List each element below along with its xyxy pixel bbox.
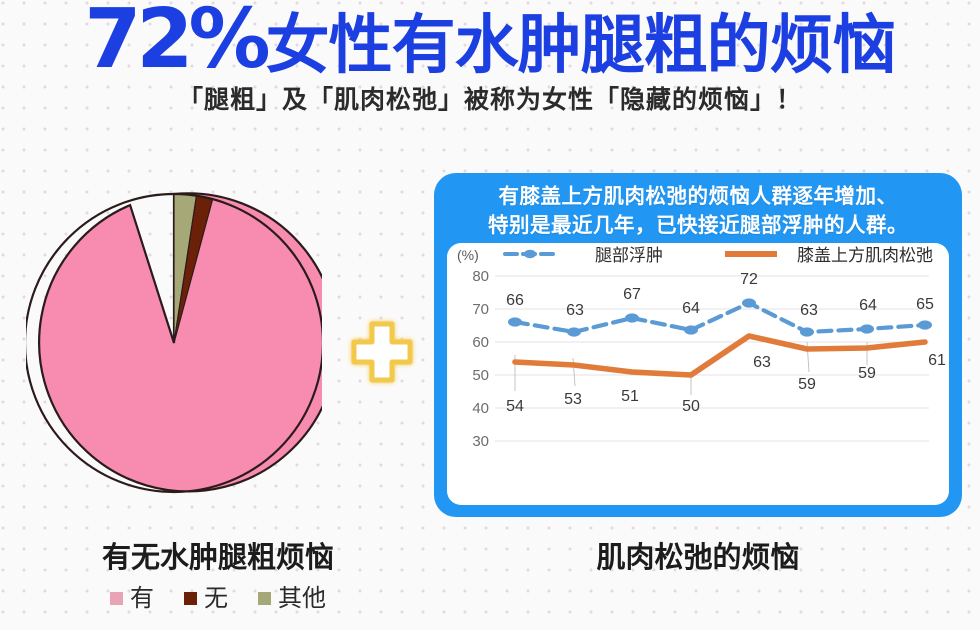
chart-legend-item-edema: 腿部浮肿 (505, 246, 663, 266)
right-chart-title: 肌肉松弛的烦恼 (458, 534, 938, 576)
legend-item-wu: 无 (184, 586, 228, 610)
data-label-sagging-5: 63 (753, 354, 771, 371)
legend-swatch-qita (258, 592, 271, 605)
series-edema: 66 63 67 64 72 63 64 65 (506, 271, 934, 337)
legend-swatch-wu (184, 592, 197, 605)
data-label-edema-6: 63 (800, 302, 818, 319)
pie-chart (26, 184, 322, 502)
headline-text: 女性有水肿腿粗的烦恼 (266, 9, 896, 83)
data-label-sagging-3: 51 (621, 388, 639, 405)
legend-label-qita: 其他 (278, 586, 326, 610)
data-label-edema-8: 65 (916, 296, 934, 313)
data-label-sagging-6: 59 (798, 376, 816, 393)
legend-label-edema: 腿部浮肿 (595, 246, 663, 266)
page-subline: 「腿粗」及「肌肉松弛」被称为女性「隐藏的烦恼」！ (0, 80, 980, 116)
series-edema-labels: 66 63 67 64 72 63 64 65 (506, 271, 934, 319)
header: 72%女性有水肿腿粗的烦恼 「腿粗」及「肌肉松弛」被称为女性「隐藏的烦恼」！ (0, 0, 980, 120)
line-chart-panel: 80 70 60 50 40 30 (%) 腿部浮肿 (447, 243, 949, 505)
card-heading: 有膝盖上方肌肉松弛的烦恼人群逐年增加、 特别是最近几年，已快接近腿部浮肿的人群。 (434, 182, 962, 240)
legend-item-you: 有 (110, 586, 154, 610)
data-label-sagging-8: 61 (928, 352, 946, 369)
y-tick-80: 80 (472, 268, 489, 285)
data-label-edema-1: 66 (506, 292, 524, 309)
data-label-sagging-1: 54 (506, 398, 524, 415)
data-label-edema-4: 64 (682, 300, 700, 317)
y-tick-40: 40 (472, 400, 489, 417)
card-heading-line1: 有膝盖上方肌肉松弛的烦恼人群逐年增加、 (434, 182, 962, 211)
pie-legend: 有 无 其他 (8, 586, 428, 610)
y-axis-unit: (%) (457, 247, 479, 263)
y-tick-70: 70 (472, 301, 489, 318)
y-axis-labels: 80 70 60 50 40 30 (472, 268, 489, 450)
data-label-edema-2: 63 (566, 302, 584, 319)
card-heading-line2: 特别是最近几年，已快接近腿部浮肿的人群。 (434, 211, 962, 240)
y-tick-30: 30 (472, 433, 489, 450)
y-tick-50: 50 (472, 367, 489, 384)
data-label-sagging-7: 59 (858, 365, 876, 382)
legend-item-qita: 其他 (258, 586, 326, 610)
legend-marker-edema (524, 250, 536, 258)
infographic-root: 72%女性有水肿腿粗的烦恼 「腿粗」及「肌肉松弛」被称为女性「隐藏的烦恼」！ 有… (0, 0, 980, 630)
left-chart-title: 有无水肿腿粗烦恼 (8, 534, 428, 576)
line-chart-svg: 80 70 60 50 40 30 (%) 腿部浮肿 (447, 243, 949, 505)
legend-label-sagging: 膝盖上方肌肉松弛 (797, 246, 933, 266)
chart-legend-item-sagging: 膝盖上方肌肉松弛 (725, 246, 933, 266)
pie-chart-svg (26, 184, 322, 502)
data-label-sagging-2: 53 (564, 391, 582, 408)
data-label-edema-5: 72 (740, 271, 758, 288)
data-label-sagging-4: 50 (682, 398, 700, 415)
data-label-edema-7: 64 (859, 297, 877, 314)
legend-label-wu: 无 (204, 586, 228, 610)
legend-label-you: 有 (130, 586, 154, 610)
headline-percent: 72% (84, 0, 265, 87)
series-sagging-labels: 54 53 51 50 63 59 59 61 (506, 352, 946, 415)
plus-icon (346, 316, 418, 388)
page-headline: 72%女性有水肿腿粗的烦恼 (0, 2, 980, 84)
chart-legend: 腿部浮肿 膝盖上方肌肉松弛 (505, 246, 933, 266)
data-label-edema-3: 67 (623, 286, 641, 303)
legend-swatch-you (110, 592, 123, 605)
blue-card: 有膝盖上方肌肉松弛的烦恼人群逐年增加、 特别是最近几年，已快接近腿部浮肿的人群。… (434, 173, 962, 517)
y-tick-60: 60 (472, 334, 489, 351)
